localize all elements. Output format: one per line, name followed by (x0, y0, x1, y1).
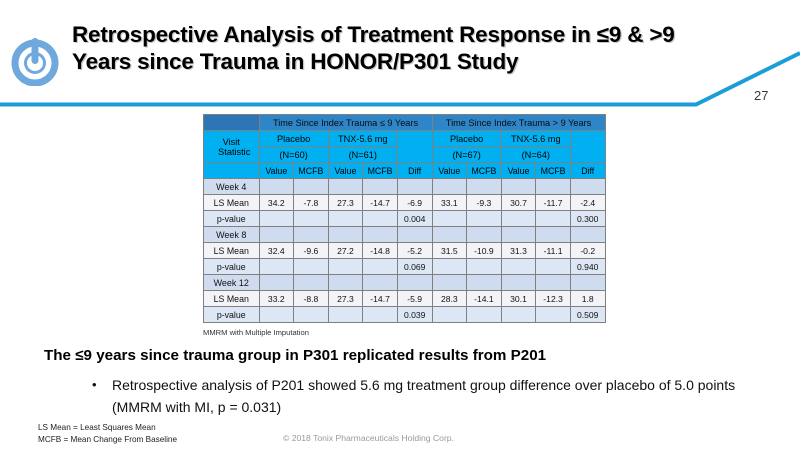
row-label-6: Week 12 (204, 275, 260, 291)
cell-3-2 (328, 227, 363, 243)
cell-4-2: 27.2 (328, 243, 363, 259)
stat-header-6: MCFB (467, 163, 502, 179)
cell-1-9: -2.4 (570, 195, 605, 211)
cell-3-0 (259, 227, 294, 243)
results-table: Time Since Index Trauma ≤ 9 Years Time S… (203, 114, 606, 323)
table-row: Week 8 (204, 227, 606, 243)
row-label-7: LS Mean (204, 291, 260, 307)
cell-1-5: 33.1 (432, 195, 467, 211)
stat-header-1: MCFB (294, 163, 329, 179)
lead-statement: The ≤9 years since trauma group in P301 … (44, 347, 764, 364)
cell-7-8: -12.3 (536, 291, 571, 307)
cell-2-5 (432, 211, 467, 227)
footnote-mcfb: MCFB = Mean Change From Baseline (38, 435, 177, 444)
table-row: Week 12 (204, 275, 606, 291)
cell-0-5 (432, 179, 467, 195)
cell-6-6 (467, 275, 502, 291)
table-row: Week 4 (204, 179, 606, 195)
arm-name-0: Placebo (259, 131, 328, 147)
cell-5-3 (363, 259, 398, 275)
table-footnote: MMRM with Multiple Imputation (203, 328, 309, 337)
cell-0-9 (570, 179, 605, 195)
cell-0-8 (536, 179, 571, 195)
stat-header-2: Value (328, 163, 363, 179)
slide-canvas: Retrospective Analysis of Treatment Resp… (0, 0, 800, 449)
table-group-header-row: Time Since Index Trauma ≤ 9 Years Time S… (204, 115, 606, 131)
cell-3-1 (294, 227, 329, 243)
cell-1-4: -6.9 (397, 195, 432, 211)
page-title: Retrospective Analysis of Treatment Resp… (72, 22, 732, 76)
cell-1-7: 30.7 (501, 195, 536, 211)
cell-3-8 (536, 227, 571, 243)
cell-3-6 (467, 227, 502, 243)
cell-8-9: 0.509 (570, 307, 605, 323)
cell-2-4: 0.004 (397, 211, 432, 227)
cell-6-8 (536, 275, 571, 291)
cell-8-4: 0.039 (397, 307, 432, 323)
cell-5-4: 0.069 (397, 259, 432, 275)
cell-7-4: -5.9 (397, 291, 432, 307)
arm-n-2: (N=67) (432, 147, 501, 163)
row-label-3: Week 8 (204, 227, 260, 243)
cell-7-9: 1.8 (570, 291, 605, 307)
cell-6-2 (328, 275, 363, 291)
cell-4-1: -9.6 (294, 243, 329, 259)
table-body: Week 4LS Mean34.2-7.827.3-14.7-6.933.1-9… (204, 179, 606, 323)
arm-name-3: TNX-5.6 mg (501, 131, 570, 147)
cell-6-3 (363, 275, 398, 291)
cell-2-7 (501, 211, 536, 227)
corner-visit-line1: Visit (204, 137, 259, 147)
cell-5-9: 0.940 (570, 259, 605, 275)
cell-5-5 (432, 259, 467, 275)
cell-2-3 (363, 211, 398, 227)
cell-6-1 (294, 275, 329, 291)
cell-0-3 (363, 179, 398, 195)
copyright-notice: © 2018 Tonix Pharmaceuticals Holding Cor… (283, 433, 454, 443)
cell-4-6: -10.9 (467, 243, 502, 259)
cell-2-2 (328, 211, 363, 227)
cell-7-3: -14.7 (363, 291, 398, 307)
cell-0-2 (328, 179, 363, 195)
cell-7-5: 28.3 (432, 291, 467, 307)
diff-spacer-right (570, 131, 605, 163)
cell-7-0: 33.2 (259, 291, 294, 307)
table-stat-header-row: ValueMCFBValueMCFBDiffValueMCFBValueMCFB… (204, 163, 606, 179)
table-arm-name-row: Visit Statistic Placebo TNX-5.6 mg Place… (204, 131, 606, 147)
cell-3-4 (397, 227, 432, 243)
cell-8-5 (432, 307, 467, 323)
cell-4-4: -5.2 (397, 243, 432, 259)
group-header-gt9: Time Since Index Trauma > 9 Years (432, 115, 605, 131)
table-row: LS Mean32.4-9.627.2-14.8-5.231.5-10.931.… (204, 243, 606, 259)
cell-7-6: -14.1 (467, 291, 502, 307)
cell-2-9: 0.300 (570, 211, 605, 227)
cell-1-0: 34.2 (259, 195, 294, 211)
cell-2-6 (467, 211, 502, 227)
stat-header-9: Diff (570, 163, 605, 179)
stat-header-7: Value (501, 163, 536, 179)
bullet-marker-icon: • (92, 375, 97, 395)
stat-header-0: Value (259, 163, 294, 179)
cell-2-1 (294, 211, 329, 227)
cell-0-6 (467, 179, 502, 195)
arm-n-3: (N=64) (501, 147, 570, 163)
cell-4-5: 31.5 (432, 243, 467, 259)
tonix-logo-icon (8, 32, 62, 86)
stat-header-8: MCFB (536, 163, 571, 179)
arm-n-1: (N=61) (328, 147, 397, 163)
cell-6-9 (570, 275, 605, 291)
arm-name-1: TNX-5.6 mg (328, 131, 397, 147)
stat-header-3: MCFB (363, 163, 398, 179)
cell-6-0 (259, 275, 294, 291)
cell-4-3: -14.8 (363, 243, 398, 259)
table-row: p-value0.0040.300 (204, 211, 606, 227)
cell-5-8 (536, 259, 571, 275)
cell-7-1: -8.8 (294, 291, 329, 307)
cell-8-7 (501, 307, 536, 323)
cell-2-0 (259, 211, 294, 227)
table-row: p-value0.0390.509 (204, 307, 606, 323)
cell-2-8 (536, 211, 571, 227)
cell-8-8 (536, 307, 571, 323)
corner-visit-label: Visit Statistic (204, 131, 260, 163)
cell-8-2 (328, 307, 363, 323)
cell-3-7 (501, 227, 536, 243)
group-header-le9: Time Since Index Trauma ≤ 9 Years (259, 115, 432, 131)
stat-header-corner (204, 163, 260, 179)
cell-4-0: 32.4 (259, 243, 294, 259)
cell-5-1 (294, 259, 329, 275)
row-label-0: Week 4 (204, 179, 260, 195)
cell-1-1: -7.8 (294, 195, 329, 211)
row-label-5: p-value (204, 259, 260, 275)
cell-8-1 (294, 307, 329, 323)
table-row: LS Mean34.2-7.827.3-14.7-6.933.1-9.330.7… (204, 195, 606, 211)
stat-header-5: Value (432, 163, 467, 179)
cell-6-5 (432, 275, 467, 291)
cell-8-3 (363, 307, 398, 323)
stat-header-4: Diff (397, 163, 432, 179)
cell-0-0 (259, 179, 294, 195)
cell-5-7 (501, 259, 536, 275)
row-label-2: p-value (204, 211, 260, 227)
arm-n-0: (N=60) (259, 147, 328, 163)
cell-1-3: -14.7 (363, 195, 398, 211)
cell-1-8: -11.7 (536, 195, 571, 211)
cell-7-2: 27.3 (328, 291, 363, 307)
cell-4-9: -0.2 (570, 243, 605, 259)
row-label-1: LS Mean (204, 195, 260, 211)
cell-1-6: -9.3 (467, 195, 502, 211)
cell-4-7: 31.3 (501, 243, 536, 259)
cell-0-1 (294, 179, 329, 195)
table-row: p-value0.0690.940 (204, 259, 606, 275)
cell-5-2 (328, 259, 363, 275)
bullet-text: Retrospective analysis of P201 showed 5.… (112, 375, 772, 418)
arm-name-2: Placebo (432, 131, 501, 147)
page-number: 27 (754, 88, 768, 103)
corner-visit-line2: Statistic (204, 147, 259, 157)
cell-7-7: 30.1 (501, 291, 536, 307)
cell-0-7 (501, 179, 536, 195)
cell-5-0 (259, 259, 294, 275)
cell-1-2: 27.3 (328, 195, 363, 211)
diff-spacer-left (397, 131, 432, 163)
cell-3-9 (570, 227, 605, 243)
cell-3-3 (363, 227, 398, 243)
cell-6-4 (397, 275, 432, 291)
table-row: LS Mean33.2-8.827.3-14.7-5.928.3-14.130.… (204, 291, 606, 307)
bullet-item: • Retrospective analysis of P201 showed … (92, 375, 772, 418)
cell-8-6 (467, 307, 502, 323)
cell-4-8: -11.1 (536, 243, 571, 259)
results-table-container: Time Since Index Trauma ≤ 9 Years Time S… (203, 114, 606, 323)
row-label-8: p-value (204, 307, 260, 323)
cell-6-7 (501, 275, 536, 291)
row-label-4: LS Mean (204, 243, 260, 259)
cell-5-6 (467, 259, 502, 275)
cell-0-4 (397, 179, 432, 195)
footnote-ls-mean: LS Mean = Least Squares Mean (38, 423, 156, 432)
cell-8-0 (259, 307, 294, 323)
table-corner-cell (204, 115, 260, 131)
cell-3-5 (432, 227, 467, 243)
